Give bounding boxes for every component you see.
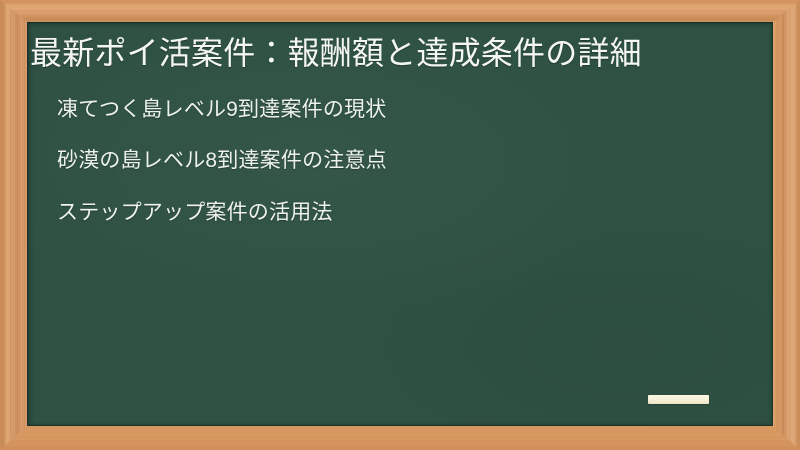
chalk-stick: [648, 395, 709, 404]
frame-rail-bottom: [0, 426, 800, 450]
frame-rail-top: [0, 0, 800, 22]
chalkboard-content: 最新ポイ活案件：報酬額と達成条件の詳細 凍てつく島レベル9到達案件の現状 砂漠の…: [27, 22, 773, 426]
chalkboard-surface: 最新ポイ活案件：報酬額と達成条件の詳細 凍てつく島レベル9到達案件の現状 砂漠の…: [27, 22, 773, 426]
slide-title: 最新ポイ活案件：報酬額と達成条件の詳細: [30, 32, 755, 75]
list-item: ステップアップ案件の活用法: [57, 200, 755, 226]
frame-rail-right: [773, 0, 800, 450]
frame-rail-left: [0, 0, 27, 450]
topic-list: 凍てつく島レベル9到達案件の現状 砂漠の島レベル8到達案件の注意点 ステップアッ…: [30, 97, 755, 226]
chalkboard-slide: 最新ポイ活案件：報酬額と達成条件の詳細 凍てつく島レベル9到達案件の現状 砂漠の…: [0, 0, 800, 450]
list-item: 凍てつく島レベル9到達案件の現状: [57, 97, 755, 123]
list-item: 砂漠の島レベル8到達案件の注意点: [57, 148, 755, 174]
